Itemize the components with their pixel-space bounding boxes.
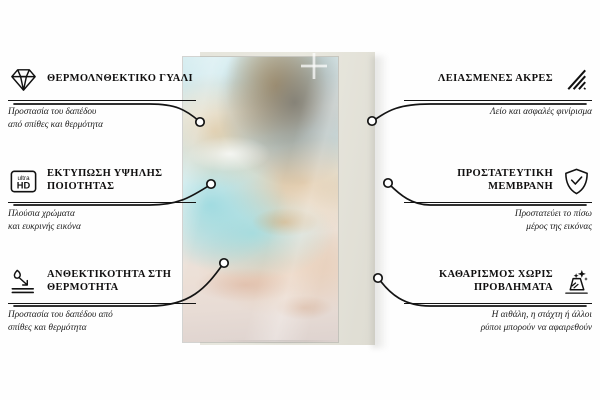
callout-dot-mid-right[interactable] [384,179,392,187]
feature-title: ΕΚΤΥΠΩΣΗ ΥΨΗΛΗΣ ΠΟΙΟΤΗΤΑΣ [47,168,196,194]
feature-title: ΚΑΘΑΡΙΣΜΟΣ ΧΩΡΙΣ ΠΡΟΒΛΗΜΑΤΑ [404,269,553,295]
feature-heading: ΛΕΙΑΣΜΕΝΕΣ ΑΚΡΕΣ [404,62,592,96]
feature-heading: ultra HD ΕΚΤΥΠΩΣΗ ΥΨΗΛΗΣ ΠΟΙΟΤΗΤΑΣ [8,164,196,198]
infographic-canvas: ΘΕΡΜΟΛΝΘΕΚΤΙΚΟ ΓΥΑΛΙ Προστασία του δαπέδ… [0,0,600,400]
feature-subtitle: Πλούσια χρώματακαι ευκρινής εικόνα [8,208,196,233]
callout-dot-bottom-right[interactable] [374,274,382,282]
feature-heading: ΘΕΡΜΟΛΝΘΕΚΤΙΚΟ ΓΥΑΛΙ [8,62,196,96]
shield-check-icon [561,166,592,197]
feature-divider [8,303,196,304]
feature-heading: ΑΝΘΕΚΤΙΚΟΤΗΤΑ ΣΤΗ ΘΕΡΜΟΤΗΤΑ [8,265,196,299]
callout-dot-top-right[interactable] [368,117,376,125]
feature-title: ΛΕΙΑΣΜΕΝΕΣ ΑΚΡΕΣ [438,73,553,86]
callout-dot-top-left[interactable] [196,118,204,126]
feature-block-easy-cleaning: ΚΑΘΑΡΙΣΜΟΣ ΧΩΡΙΣ ΠΡΟΒΛΗΜΑΤΑ Η αιθάλη, η … [404,265,592,334]
feature-divider [8,202,196,203]
feature-subtitle: Προστατεύει το πίσωμέρος της εικόνας [404,208,592,233]
feature-subtitle: Λείο και ασφαλές φινίρισμα [404,106,592,119]
callout-dot-mid-left[interactable] [207,180,215,188]
feature-block-heat-durability: ΑΝΘΕΚΤΙΚΟΤΗΤΑ ΣΤΗ ΘΕΡΜΟΤΗΤΑ Προστασία το… [8,265,196,334]
feature-block-high-quality-print: ultra HD ΕΚΤΥΠΩΣΗ ΥΨΗΛΗΣ ΠΟΙΟΤΗΤΑΣ Πλούσ… [8,164,196,233]
feature-subtitle: Προστασία του δαπέδου απόσπίθες και θερμ… [8,309,196,334]
feature-block-heat-resistant-glass: ΘΕΡΜΟΛΝΘΕΚΤΙΚΟ ΓΥΑΛΙ Προστασία του δαπέδ… [8,62,196,131]
feature-subtitle: Η αιθάλη, η στάχτη ή άλλοιρύποι μπορούν … [404,309,592,334]
sparkle-clean-icon [561,267,592,298]
feature-block-protective-membrane: ΠΡΟΣΤΑΤΕΥΤΙΚΗ ΜΕΜΒΡΑΝΗ Προστατεύει το πί… [404,164,592,233]
feature-divider [404,202,592,203]
feature-heading: ΠΡΟΣΤΑΤΕΥΤΙΚΗ ΜΕΜΒΡΑΝΗ [404,164,592,198]
feature-divider [404,303,592,304]
feature-title: ΑΝΘΕΚΤΙΚΟΤΗΤΑ ΣΤΗ ΘΕΡΜΟΤΗΤΑ [47,269,196,295]
diamond-icon [8,64,39,95]
feature-subtitle: Προστασία του δαπέδουαπό σπίθες και θερμ… [8,106,196,131]
flame-heat-resistance-icon [8,267,39,298]
feature-block-polished-edges: ΛΕΙΑΣΜΕΝΕΣ ΑΚΡΕΣ Λείο και ασφαλές φινίρι… [404,62,592,119]
badge-bottom-label: HD [17,180,31,190]
feature-title: ΘΕΡΜΟΛΝΘΕΚΤΙΚΟ ΓΥΑΛΙ [47,73,193,86]
callout-dot-bottom-left[interactable] [220,259,228,267]
ultra-hd-badge-icon: ultra HD [8,166,39,197]
feature-divider [404,100,592,101]
feature-title: ΠΡΟΣΤΑΤΕΥΤΙΚΗ ΜΕΜΒΡΑΝΗ [404,168,553,194]
feature-divider [8,100,196,101]
polished-edges-icon [561,64,592,95]
feature-heading: ΚΑΘΑΡΙΣΜΟΣ ΧΩΡΙΣ ΠΡΟΒΛΗΜΑΤΑ [404,265,592,299]
